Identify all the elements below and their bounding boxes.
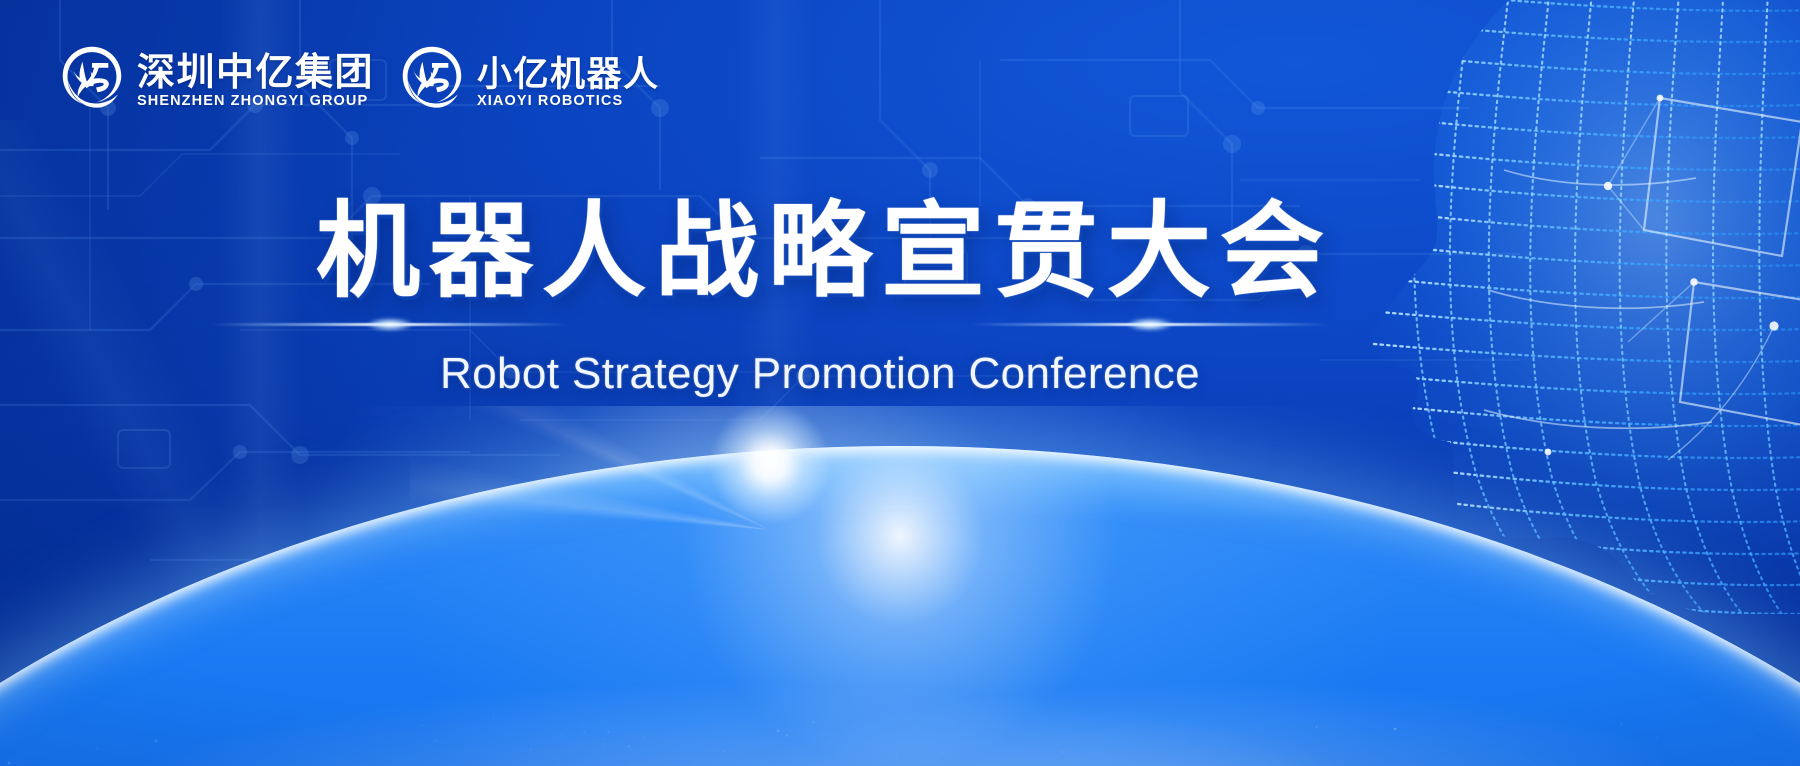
logo-bar: 深圳中亿集团 SHENZHEN ZHONGYI GROUP 小亿机器人 XIAO…	[58, 44, 660, 112]
logo-zhongyi-name-en: SHENZHEN ZHONGYI GROUP	[137, 94, 374, 109]
zhongyi-circle-logo-icon	[58, 44, 126, 112]
logo-xiaoyi-name-cn: 小亿机器人	[477, 57, 660, 93]
logo-xiaoyi[interactable]: 小亿机器人 XIAOYI ROBOTICS	[398, 44, 660, 112]
earth-horizon-icon	[0, 406, 1800, 766]
xiaoyi-circle-logo-icon	[398, 44, 466, 112]
conference-banner: 深圳中亿集团 SHENZHEN ZHONGYI GROUP 小亿机器人 XIAO…	[0, 0, 1800, 766]
logo-zhongyi[interactable]: 深圳中亿集团 SHENZHEN ZHONGYI GROUP	[58, 44, 374, 112]
logo-zhongyi-name-cn: 深圳中亿集团	[137, 54, 374, 93]
logo-xiaoyi-name-en: XIAOYI ROBOTICS	[477, 94, 660, 109]
sun-burst-icon	[710, 406, 830, 524]
